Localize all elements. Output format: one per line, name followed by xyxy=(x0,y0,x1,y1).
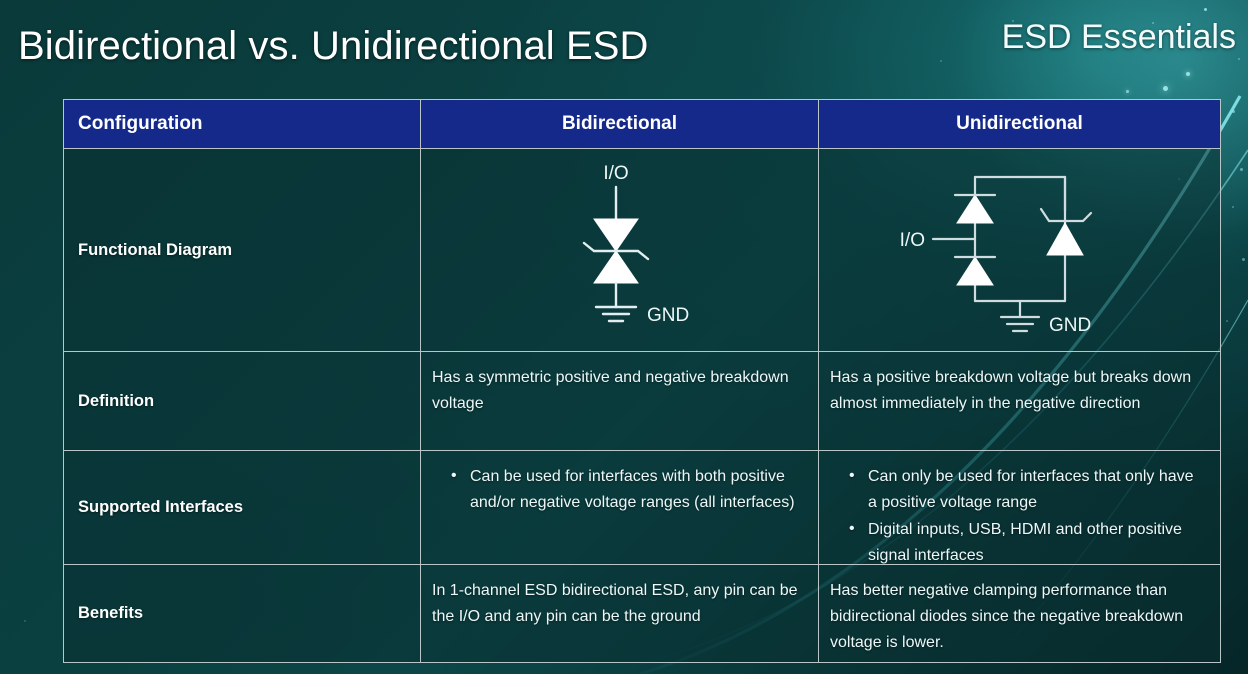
row-label-functional-diagram: Functional Diagram xyxy=(64,149,420,351)
cell-unidirectional-benefits: Has better negative clamping performance… xyxy=(819,565,1220,662)
cell-text: Has a symmetric positive and negative br… xyxy=(421,352,818,417)
row-label-cell: Definition xyxy=(64,352,421,450)
bullet-list: Can be used for interfaces with both pos… xyxy=(431,464,804,516)
cell-text: Has better negative clamping performance… xyxy=(819,565,1220,656)
comparison-table: Configuration Bidirectional Unidirection… xyxy=(63,99,1221,663)
table-row: Functional Diagram xyxy=(64,149,1220,352)
cell-unidirectional-supported-interfaces: Can only be used for interfaces that onl… xyxy=(819,451,1220,564)
cell-text: Has a positive breakdown voltage but bre… xyxy=(819,352,1220,417)
list-item: Can only be used for interfaces that onl… xyxy=(849,464,1206,516)
cell-bidirectional-diagram: I/O GND xyxy=(421,149,819,351)
row-label-benefits: Benefits xyxy=(64,565,420,662)
cell-bidirectional-supported-interfaces: Can be used for interfaces with both pos… xyxy=(421,451,819,564)
table-row: Definition Has a symmetric positive and … xyxy=(64,352,1220,451)
unidirectional-gnd-label: GND xyxy=(1049,315,1091,336)
table-row: Benefits In 1-channel ESD bidirectional … xyxy=(64,565,1220,662)
row-label-cell: Functional Diagram xyxy=(64,149,421,351)
cell-unidirectional-diagram: I/O GND xyxy=(819,149,1220,351)
list-item: Digital inputs, USB, HDMI and other posi… xyxy=(849,517,1206,564)
bidirectional-tvs-diode-schematic: I/O GND xyxy=(520,155,720,345)
list-item: Can be used for interfaces with both pos… xyxy=(451,464,804,516)
table-row: Supported Interfaces Can be used for int… xyxy=(64,451,1220,565)
cell-bidirectional-benefits: In 1-channel ESD bidirectional ESD, any … xyxy=(421,565,819,662)
cell-bidirectional-definition: Has a symmetric positive and negative br… xyxy=(421,352,819,450)
row-label-cell: Supported Interfaces xyxy=(64,451,421,564)
bidirectional-io-label: I/O xyxy=(603,163,628,184)
cell-text: In 1-channel ESD bidirectional ESD, any … xyxy=(421,565,818,630)
unidirectional-esd-schematic: I/O GND xyxy=(875,155,1165,345)
table-header-unidirectional: Unidirectional xyxy=(819,100,1220,148)
table-header-bidirectional: Bidirectional xyxy=(421,100,819,148)
slide-title: Bidirectional vs. Unidirectional ESD xyxy=(18,24,649,68)
row-label-cell: Benefits xyxy=(64,565,421,662)
table-header-row: Configuration Bidirectional Unidirection… xyxy=(64,100,1220,149)
cell-unidirectional-definition: Has a positive breakdown voltage but bre… xyxy=(819,352,1220,450)
slide-series-label: ESD Essentials xyxy=(1002,18,1236,57)
slide-canvas: Bidirectional vs. Unidirectional ESD ESD… xyxy=(0,0,1248,674)
bidirectional-gnd-label: GND xyxy=(647,305,689,326)
row-label-supported-interfaces: Supported Interfaces xyxy=(64,451,420,564)
bullet-list: Can only be used for interfaces that onl… xyxy=(829,464,1206,564)
unidirectional-io-label: I/O xyxy=(899,230,924,251)
row-label-definition: Definition xyxy=(64,352,420,450)
table-header-configuration: Configuration xyxy=(64,100,421,148)
